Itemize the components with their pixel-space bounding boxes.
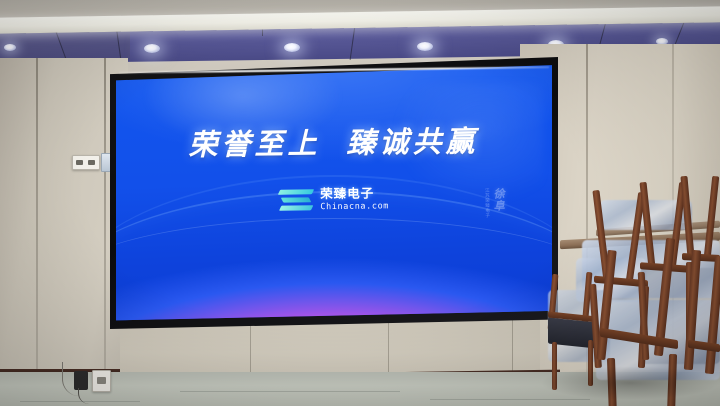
chair-shadow [540, 366, 720, 400]
logo-bar-top [278, 189, 314, 194]
led-display-screen[interactable]: 荣誉至上臻诚共赢 荣臻电子 Chinacna.com 江苏荣臻电子 徐 [110, 57, 558, 329]
room-photo-scene: 荣誉至上臻诚共赢 荣臻电子 Chinacna.com 江苏荣臻电子 徐 [0, 0, 720, 406]
socket-hole-b [88, 160, 95, 165]
socket-hole-a [76, 160, 83, 165]
slide-content: 荣誉至上臻诚共赢 荣臻电子 Chinacna.com 江苏荣臻电子 徐 [116, 62, 552, 324]
headline-right-phrase: 臻诚共赢 [346, 124, 478, 160]
wall-left [0, 58, 128, 406]
watermark-small-text: 江苏荣臻电子 [484, 188, 490, 218]
screen-surface: 荣誉至上臻诚共赢 荣臻电子 Chinacna.com 江苏荣臻电子 徐 [116, 62, 552, 324]
downlight-2 [144, 44, 160, 53]
logo-bar-mid [281, 197, 312, 202]
floor-tile-line-3 [20, 401, 140, 402]
floor-tile-line-1 [180, 391, 400, 392]
logo-website: Chinacna.com [320, 203, 389, 212]
wall-socket-lower[interactable] [92, 370, 111, 392]
wall-left-seam-1 [36, 58, 38, 406]
chair-5-armrest [600, 328, 678, 349]
wall-left-seam-2 [104, 58, 106, 406]
downlight-4 [417, 42, 433, 51]
wall-socket-upper[interactable] [72, 155, 100, 170]
logo-company-name: 荣臻电子 [320, 188, 374, 201]
downlight-3 [284, 43, 300, 52]
logo-bar-bottom [279, 205, 313, 210]
slide-watermark: 江苏荣臻电子 徐阜 [484, 188, 505, 218]
slide-headline: 荣誉至上臻诚共赢 [116, 117, 552, 165]
headline-left-phrase: 荣誉至上 [188, 126, 320, 162]
socket-lower-hole [97, 377, 106, 384]
watermark-signature: 徐阜 [491, 188, 504, 212]
downlight-1 [4, 44, 16, 51]
logo-text-block: 荣臻电子 Chinacna.com [320, 188, 389, 212]
chair-6-post-b [705, 256, 720, 374]
double-arrow-logo-mark [279, 186, 313, 214]
